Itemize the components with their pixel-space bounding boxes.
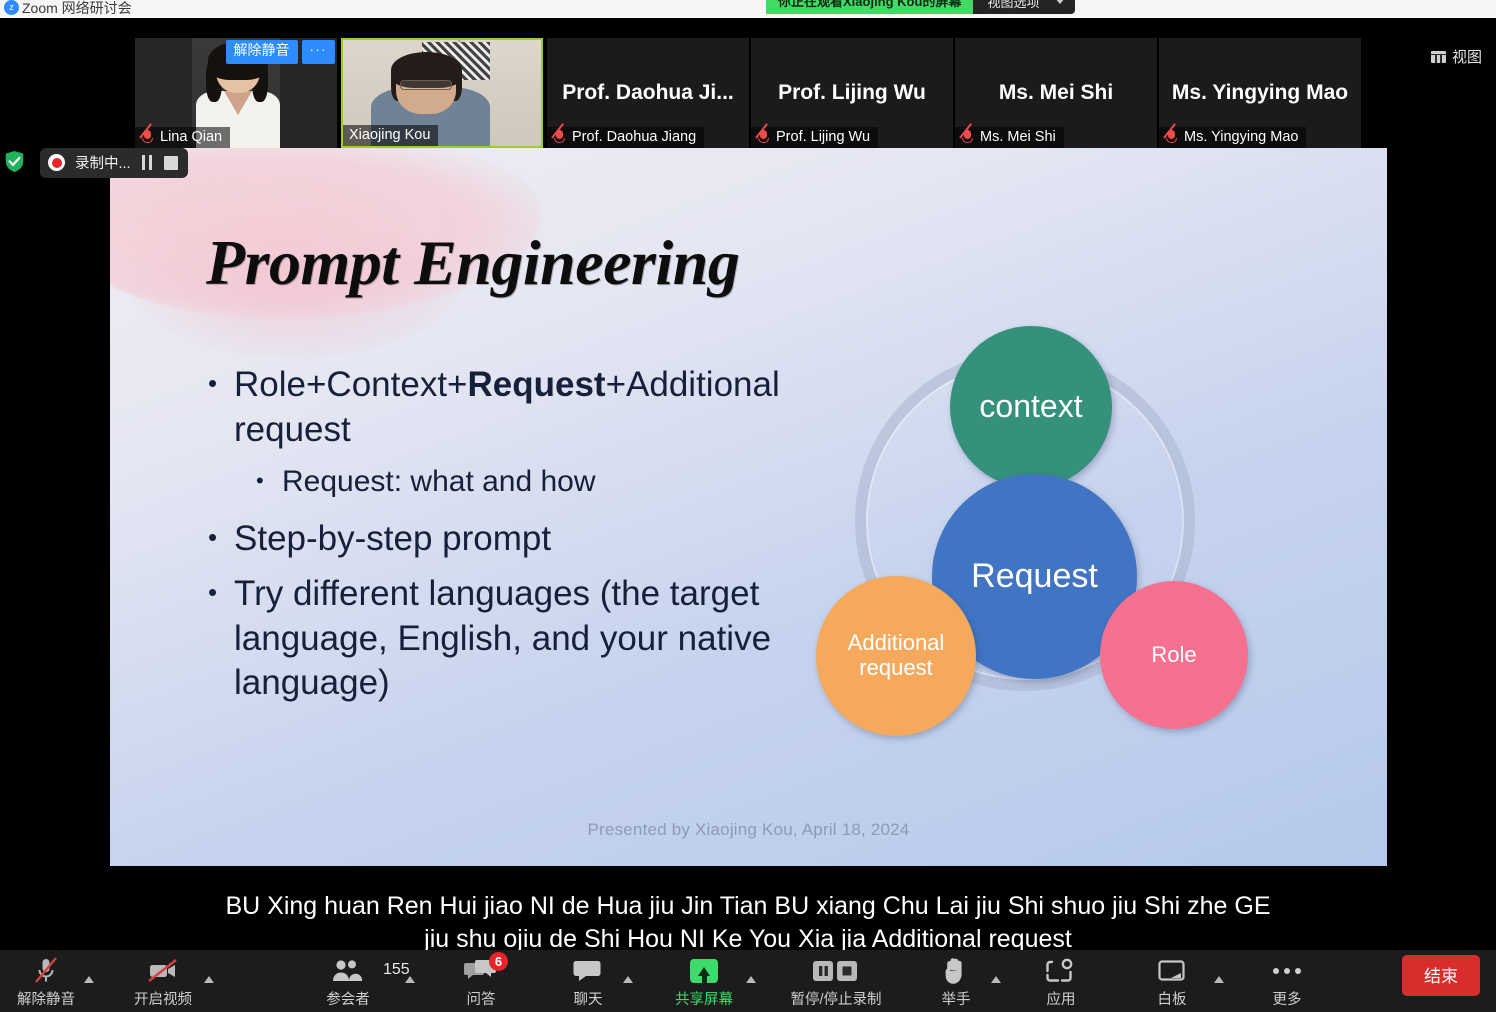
toolbar-label: 解除静音 <box>17 988 75 1009</box>
sharing-notice-label: 你正在观看Xiaojing Kou的屏幕 <box>766 0 973 14</box>
apps-icon <box>1046 956 1076 986</box>
participant-name: Xiaojing Kou <box>349 127 430 143</box>
microphone-muted-icon <box>961 129 974 145</box>
participant-tile-lijing-wu[interactable]: Prof. Lijing Wu Prof. Lijing Wu <box>751 38 953 148</box>
toolbar-more-button[interactable]: 更多 <box>1243 956 1331 1009</box>
participant-display-name: Ms. Yingying Mao <box>1159 81 1361 105</box>
tile-footer: Xiaojing Kou <box>343 125 438 146</box>
chat-bubble-icon <box>573 956 603 986</box>
whiteboard-options-caret-icon[interactable] <box>1214 976 1224 983</box>
caption-line-1: BU Xing huan Ren Hui jiao NI de Hua jiu … <box>0 890 1496 923</box>
screen-share-banner: 你正在观看Xiaojing Kou的屏幕 视图选项 <box>766 0 1075 14</box>
participant-filmstrip: 解除静音 ··· Lina Qian <box>0 18 1496 148</box>
window-title-bar: z Zoom 网络研讨会 <box>0 0 1496 18</box>
pause-recording-button[interactable] <box>141 155 154 170</box>
chat-options-caret-icon[interactable] <box>623 976 633 983</box>
slide-bullet-list: • Role+Context+Request+Additional reques… <box>208 363 778 716</box>
participant-tile-daohua-jiang[interactable]: Prof. Daohua Ji... Prof. Daohua Jiang <box>547 38 749 148</box>
tile-footer: Prof. Lijing Wu <box>751 127 878 148</box>
view-options-label: 视图选项 <box>987 0 1039 11</box>
toolbar-label: 聊天 <box>574 988 603 1009</box>
bullet-text: Role+Context+Request+Additional request <box>234 363 780 453</box>
participant-display-name: Ms. Mei Shi <box>955 81 1157 105</box>
bullet-dot-icon: • <box>208 517 222 562</box>
grid-view-icon <box>1431 51 1446 63</box>
camera-muted-icon <box>147 956 179 986</box>
toolbar-unmute-button[interactable]: 解除静音 <box>2 956 90 1009</box>
qa-bubbles-icon: 6 <box>464 956 498 986</box>
tile-more-button[interactable]: ··· <box>302 40 336 64</box>
participant-display-name: Prof. Daohua Ji... <box>547 81 749 105</box>
zoom-logo-icon: z <box>4 0 19 15</box>
toolbar-chat-button[interactable]: 聊天 <box>544 956 632 1009</box>
participant-name: Lina Qian <box>160 129 222 145</box>
toolbar-participants-button[interactable]: 155 参会者 <box>304 956 392 1009</box>
microphone-muted-icon <box>757 129 770 145</box>
raise-hand-options-caret-icon[interactable] <box>991 976 1001 983</box>
toolbar-share-screen-button[interactable]: 共享屏幕 <box>660 956 748 1009</box>
view-button-label: 视图 <box>1452 46 1482 67</box>
live-captions: BU Xing huan Ren Hui jiao NI de Hua jiu … <box>0 890 1496 956</box>
bullet-dot-icon: • <box>208 572 222 706</box>
participant-name: Ms. Yingying Mao <box>1184 129 1298 145</box>
toolbar-whiteboard-button[interactable]: 白板 <box>1128 956 1216 1009</box>
toolbar-label: 问答 <box>467 988 496 1009</box>
bullet-dot-icon: • <box>208 363 222 453</box>
toolbar-label: 参会者 <box>326 988 370 1009</box>
prompt-components-diagram: context Request Additional request Role <box>810 318 1250 738</box>
view-options-button[interactable]: 视图选项 <box>973 0 1075 14</box>
participant-display-name: Prof. Lijing Wu <box>751 81 953 105</box>
pause-stop-icon <box>811 956 861 986</box>
shared-screen-slide[interactable]: Prompt Engineering • Role+Context+Reques… <box>110 148 1387 866</box>
participants-icon: 155 <box>331 956 365 986</box>
participant-tile-yingying-mao[interactable]: Ms. Yingying Mao Ms. Yingying Mao <box>1159 38 1361 148</box>
recording-indicator: 录制中... <box>40 148 188 178</box>
window-title: Zoom 网络研讨会 <box>22 0 132 18</box>
bullet-item-sub: • Request: what and how <box>256 463 778 501</box>
share-screen-icon <box>690 956 718 986</box>
toolbar-start-video-button[interactable]: 开启视频 <box>119 956 207 1009</box>
bullet-item: • Try different languages (the target la… <box>208 572 778 706</box>
diagram-circle-additional-request: Additional request <box>816 576 976 736</box>
whiteboard-icon <box>1157 956 1187 986</box>
diagram-circle-role: Role <box>1100 581 1248 729</box>
microphone-muted-icon <box>553 129 566 145</box>
security-shield-icon[interactable] <box>4 150 25 173</box>
more-dots-icon <box>1273 956 1301 986</box>
tile-footer: Prof. Daohua Jiang <box>547 127 704 148</box>
bullet-text: Request: what and how <box>282 463 596 501</box>
tile-footer: Ms. Yingying Mao <box>1159 127 1306 148</box>
zoom-webinar-window: z Zoom 网络研讨会 你正在观看Xiaojing Kou的屏幕 视图选项 解… <box>0 0 1496 1012</box>
toolbar-label: 举手 <box>942 988 971 1009</box>
participants-options-caret-icon[interactable] <box>405 976 415 983</box>
toolbar-label: 开启视频 <box>134 988 192 1009</box>
tile-hover-controls: 解除静音 ··· <box>226 40 336 64</box>
raise-hand-icon <box>943 956 969 986</box>
bullet-item: • Role+Context+Request+Additional reques… <box>208 363 778 453</box>
meeting-toolbar: 解除静音 开启视频 <box>0 950 1496 1012</box>
unmute-options-caret-icon[interactable] <box>84 976 94 983</box>
slide-credit: Presented by Xiaojing Kou, April 18, 202… <box>110 820 1387 840</box>
microphone-muted-icon <box>1165 129 1178 145</box>
toolbar-apps-button[interactable]: 应用 <box>1017 956 1105 1009</box>
stop-recording-button[interactable] <box>164 156 178 170</box>
tile-unmute-button[interactable]: 解除静音 <box>226 40 298 64</box>
record-dot-icon <box>48 154 65 171</box>
toolbar-label: 更多 <box>1273 988 1302 1009</box>
toolbar-label: 共享屏幕 <box>675 988 733 1009</box>
end-meeting-button[interactable]: 结束 <box>1402 955 1480 996</box>
tile-footer: Lina Qian <box>135 127 230 148</box>
video-options-caret-icon[interactable] <box>204 976 214 983</box>
slide-title: Prompt Engineering <box>206 226 739 300</box>
chevron-down-icon <box>1055 0 1065 4</box>
participant-name: Prof. Lijing Wu <box>776 129 870 145</box>
recording-status-label: 录制中... <box>75 152 131 173</box>
bullet-dot-icon: • <box>256 463 270 501</box>
microphone-muted-icon <box>141 129 154 145</box>
participant-tile-xiaojing-kou[interactable]: Xiaojing Kou <box>341 38 543 148</box>
participant-tile-lina-qian[interactable]: 解除静音 ··· Lina Qian <box>135 38 337 148</box>
toolbar-label: 应用 <box>1047 988 1076 1009</box>
bullet-text: Step-by-step prompt <box>234 517 551 562</box>
toolbar-qa-button[interactable]: 6 问答 <box>437 956 525 1009</box>
share-options-caret-icon[interactable] <box>746 976 756 983</box>
qa-badge: 6 <box>489 952 508 971</box>
diagram-circle-context: context <box>950 326 1112 488</box>
bullet-item: • Step-by-step prompt <box>208 517 778 562</box>
toolbar-pause-stop-recording-button[interactable]: 暂停/停止录制 <box>790 956 882 1009</box>
participant-name: Ms. Mei Shi <box>980 129 1056 145</box>
participant-tile-mei-shi[interactable]: Ms. Mei Shi Ms. Mei Shi <box>955 38 1157 148</box>
view-button[interactable]: 视图 <box>1431 46 1482 67</box>
toolbar-label: 暂停/停止录制 <box>790 988 881 1009</box>
tile-footer: Ms. Mei Shi <box>955 127 1064 148</box>
microphone-muted-icon <box>33 956 59 986</box>
participant-name: Prof. Daohua Jiang <box>572 129 696 145</box>
toolbar-label: 白板 <box>1158 988 1187 1009</box>
toolbar-raise-hand-button[interactable]: 举手 <box>912 956 1000 1009</box>
bullet-text: Try different languages (the target lang… <box>234 572 778 706</box>
